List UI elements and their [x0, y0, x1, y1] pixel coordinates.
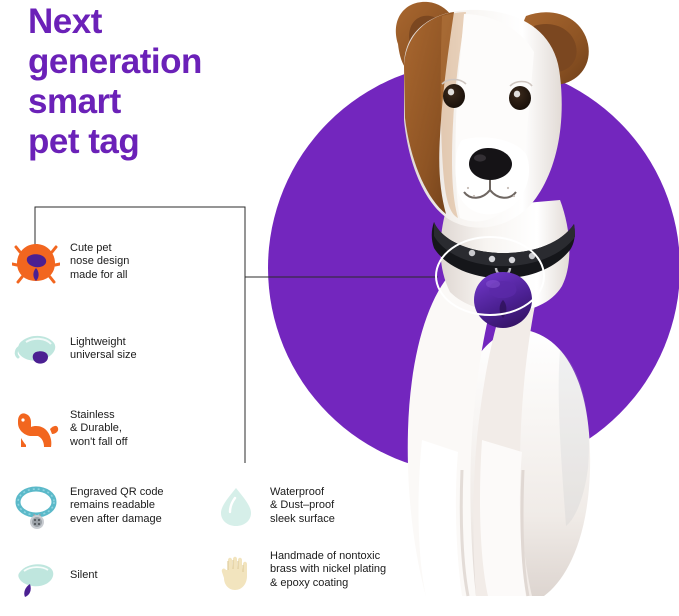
feature-cute-nose-design: Cute pet nose design made for all [12, 238, 232, 286]
orange-dog-icon [12, 405, 60, 453]
collar-with-tag-icon [12, 482, 60, 530]
feature-lightweight-universal-size: Lightweight universal size [12, 325, 232, 373]
feature-label: Engraved QR code remains readable even a… [70, 486, 164, 527]
orange-nose-icon [12, 238, 60, 286]
feature-label: Lightweight universal size [70, 336, 137, 363]
feature-stainless-durable: Stainless & Durable, won't fall off [12, 405, 232, 453]
mint-tag-shell-icon [12, 325, 60, 373]
feature-label: Handmade of nontoxic brass with nickel p… [270, 550, 386, 591]
tag-highlight-ring [435, 236, 545, 316]
water-drop-icon [212, 482, 260, 530]
feature-label: Cute pet nose design made for all [70, 242, 129, 283]
feature-silent: Silent [12, 552, 192, 600]
silent-tag-icon [12, 552, 60, 600]
feature-label: Silent [70, 569, 98, 583]
feature-engraved-qr-code: Engraved QR code remains readable even a… [12, 482, 232, 530]
infographic-page: Next generation smart pet tag [0, 0, 679, 616]
feature-label: Waterproof & Dust–proof sleek surface [270, 486, 335, 527]
feature-handmade-nontoxic-brass: Handmade of nontoxic brass with nickel p… [212, 546, 462, 594]
feature-label: Stainless & Durable, won't fall off [70, 409, 128, 450]
feature-waterproof-dustproof: Waterproof & Dust–proof sleek surface [212, 482, 442, 530]
page-title: Next generation smart pet tag [28, 2, 328, 162]
hand-icon [212, 546, 260, 594]
